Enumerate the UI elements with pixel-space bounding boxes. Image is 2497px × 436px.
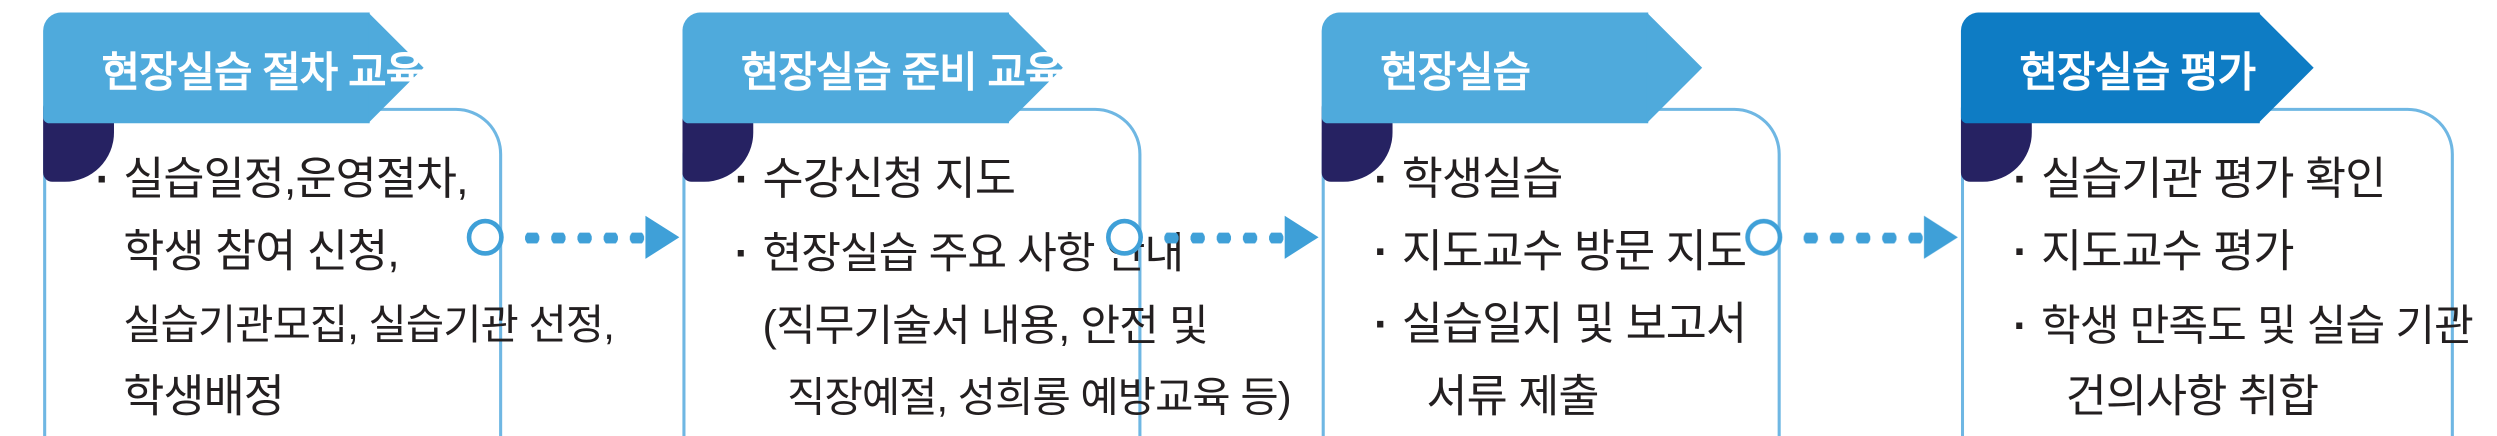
connector-dotted-line: [519, 233, 645, 244]
header-arrow-tip-3: [1647, 12, 1702, 123]
list-item-text: 직장예절, 성희롱 예방교육 등): [787, 374, 1291, 420]
list-item: ·실습일지 및 보고서: [1374, 290, 1741, 362]
flow-step-card-1[interactable]: 현장실습 절차 교육 ·실습일정,운영절차, 학생 참여 신청, 실습기관모집,…: [43, 12, 502, 436]
list-item-text: 학생배정: [123, 373, 284, 422]
connector-arrow-icon: [1285, 216, 1319, 259]
list-item-text: 서류 제출: [1426, 373, 1598, 422]
process-flow-diagram: 현장실습 절차 교육 ·실습일정,운영절차, 학생 참여 신청, 실습기관모집,…: [0, 0, 2497, 436]
connector-start-circle-icon: [467, 219, 504, 256]
list-item: 실습기관모집, 실습기관 선정,: [96, 290, 463, 362]
list-item-text: 지도교수 방문 지도: [1402, 228, 1746, 277]
bullet-icon: ·: [1374, 290, 1402, 362]
flow-connector-1-to-2: [467, 200, 683, 280]
list-item: 서류 제출: [1374, 362, 1741, 434]
connector-dotted-line: [1158, 233, 1284, 244]
flow-step-card-4[interactable]: 현장실습 평가 ·실습기관 평가 확인 ·지도교수 평가 ·학생 만족도 및 실…: [1961, 12, 2454, 436]
card-header-label-3: 현장실습: [1380, 38, 1530, 98]
connector-arrow-icon: [645, 216, 679, 259]
card-header-2: 현장실습 준비 교육: [682, 12, 1009, 123]
connector-dotted-line: [1798, 233, 1924, 244]
list-item-text: 지도교수 평가: [2041, 228, 2294, 277]
list-item-text: 학생실습: [1402, 156, 1563, 205]
list-item: 건의사항 취합: [2013, 362, 2414, 434]
bullet-icon: ·: [735, 217, 763, 289]
list-item-text: 수강신청 지도: [763, 156, 1016, 205]
list-item: ·실습기관 평가 확인: [2013, 145, 2414, 217]
list-item-text: 실습일정,운영절차,: [123, 156, 467, 205]
list-item: 직장예절, 성희롱 예방교육 등): [735, 362, 1102, 434]
connector-start-circle-icon: [1745, 219, 1782, 256]
card-header-3: 현장실습: [1322, 12, 1649, 123]
flow-connector-3-to-4: [1745, 200, 1961, 280]
list-item: ·학생 만족도 및 실습 기관: [2013, 290, 2414, 362]
list-item-text: 건의사항 취합: [2066, 373, 2319, 422]
list-item-text: (직무기술서 내용, 안전 및: [763, 302, 1208, 350]
list-item-text: 실습일지 및 보고서: [1402, 300, 1746, 349]
bullet-icon: ·: [2013, 217, 2041, 289]
list-item: 학생배정: [96, 362, 463, 434]
header-arrow-tip-4: [2258, 12, 2313, 123]
list-item: ·학생실습: [1374, 145, 1741, 217]
card-header-label-2: 현장실습 준비 교육: [741, 38, 1063, 98]
card-item-list-4: ·실습기관 평가 확인 ·지도교수 평가 ·학생 만족도 및 실습 기관 건의사…: [1961, 145, 2454, 435]
flow-step-card-2[interactable]: 현장실습 준비 교육 ·수강신청 지도 ·현장실습 주요 사항 안내 (직무기술…: [682, 12, 1141, 436]
list-item-text: 학생 만족도 및 실습 기관: [2041, 302, 2473, 350]
list-item: 학생 참여 신청,: [96, 217, 463, 289]
card-item-list-2: ·수강신청 지도 ·현장실습 주요 사항 안내 (직무기술서 내용, 안전 및 …: [682, 145, 1141, 435]
list-item-text: 학생 참여 신청,: [123, 228, 399, 277]
list-item: ·수강신청 지도: [735, 145, 1102, 217]
connector-arrow-icon: [1924, 216, 1958, 259]
card-header-label-1: 현장실습 절차 교육: [102, 38, 424, 98]
card-item-list-3: ·학생실습 ·지도교수 방문 지도 ·실습일지 및 보고서 서류 제출: [1322, 145, 1781, 435]
list-item: ·지도교수 평가: [2013, 217, 2414, 289]
list-item: ·현장실습 주요 사항 안내: [735, 217, 1102, 289]
card-item-list-1: ·실습일정,운영절차, 학생 참여 신청, 실습기관모집, 실습기관 선정, 학…: [43, 145, 502, 435]
card-header-1: 현장실습 절차 교육: [43, 12, 370, 123]
connector-start-circle-icon: [1106, 219, 1143, 256]
flow-step-card-3[interactable]: 현장실습 ·학생실습 ·지도교수 방문 지도 ·실습일지 및 보고서 서류 제출: [1322, 12, 1781, 436]
list-item-text: 실습기관모집, 실습기관 선정,: [123, 302, 614, 348]
list-item: ·지도교수 방문 지도: [1374, 217, 1741, 289]
list-item: ·실습일정,운영절차,: [96, 145, 463, 217]
card-header-4: 현장실습 평가: [1961, 12, 2260, 123]
list-item-text: 실습기관 평가 확인: [2041, 156, 2385, 205]
bullet-icon: ·: [1374, 217, 1402, 289]
list-item: (직무기술서 내용, 안전 및: [735, 290, 1102, 362]
card-header-label-4: 현장실습 평가: [2019, 38, 2255, 98]
bullet-icon: ·: [2013, 290, 2041, 362]
flow-connector-2-to-3: [1106, 200, 1322, 280]
